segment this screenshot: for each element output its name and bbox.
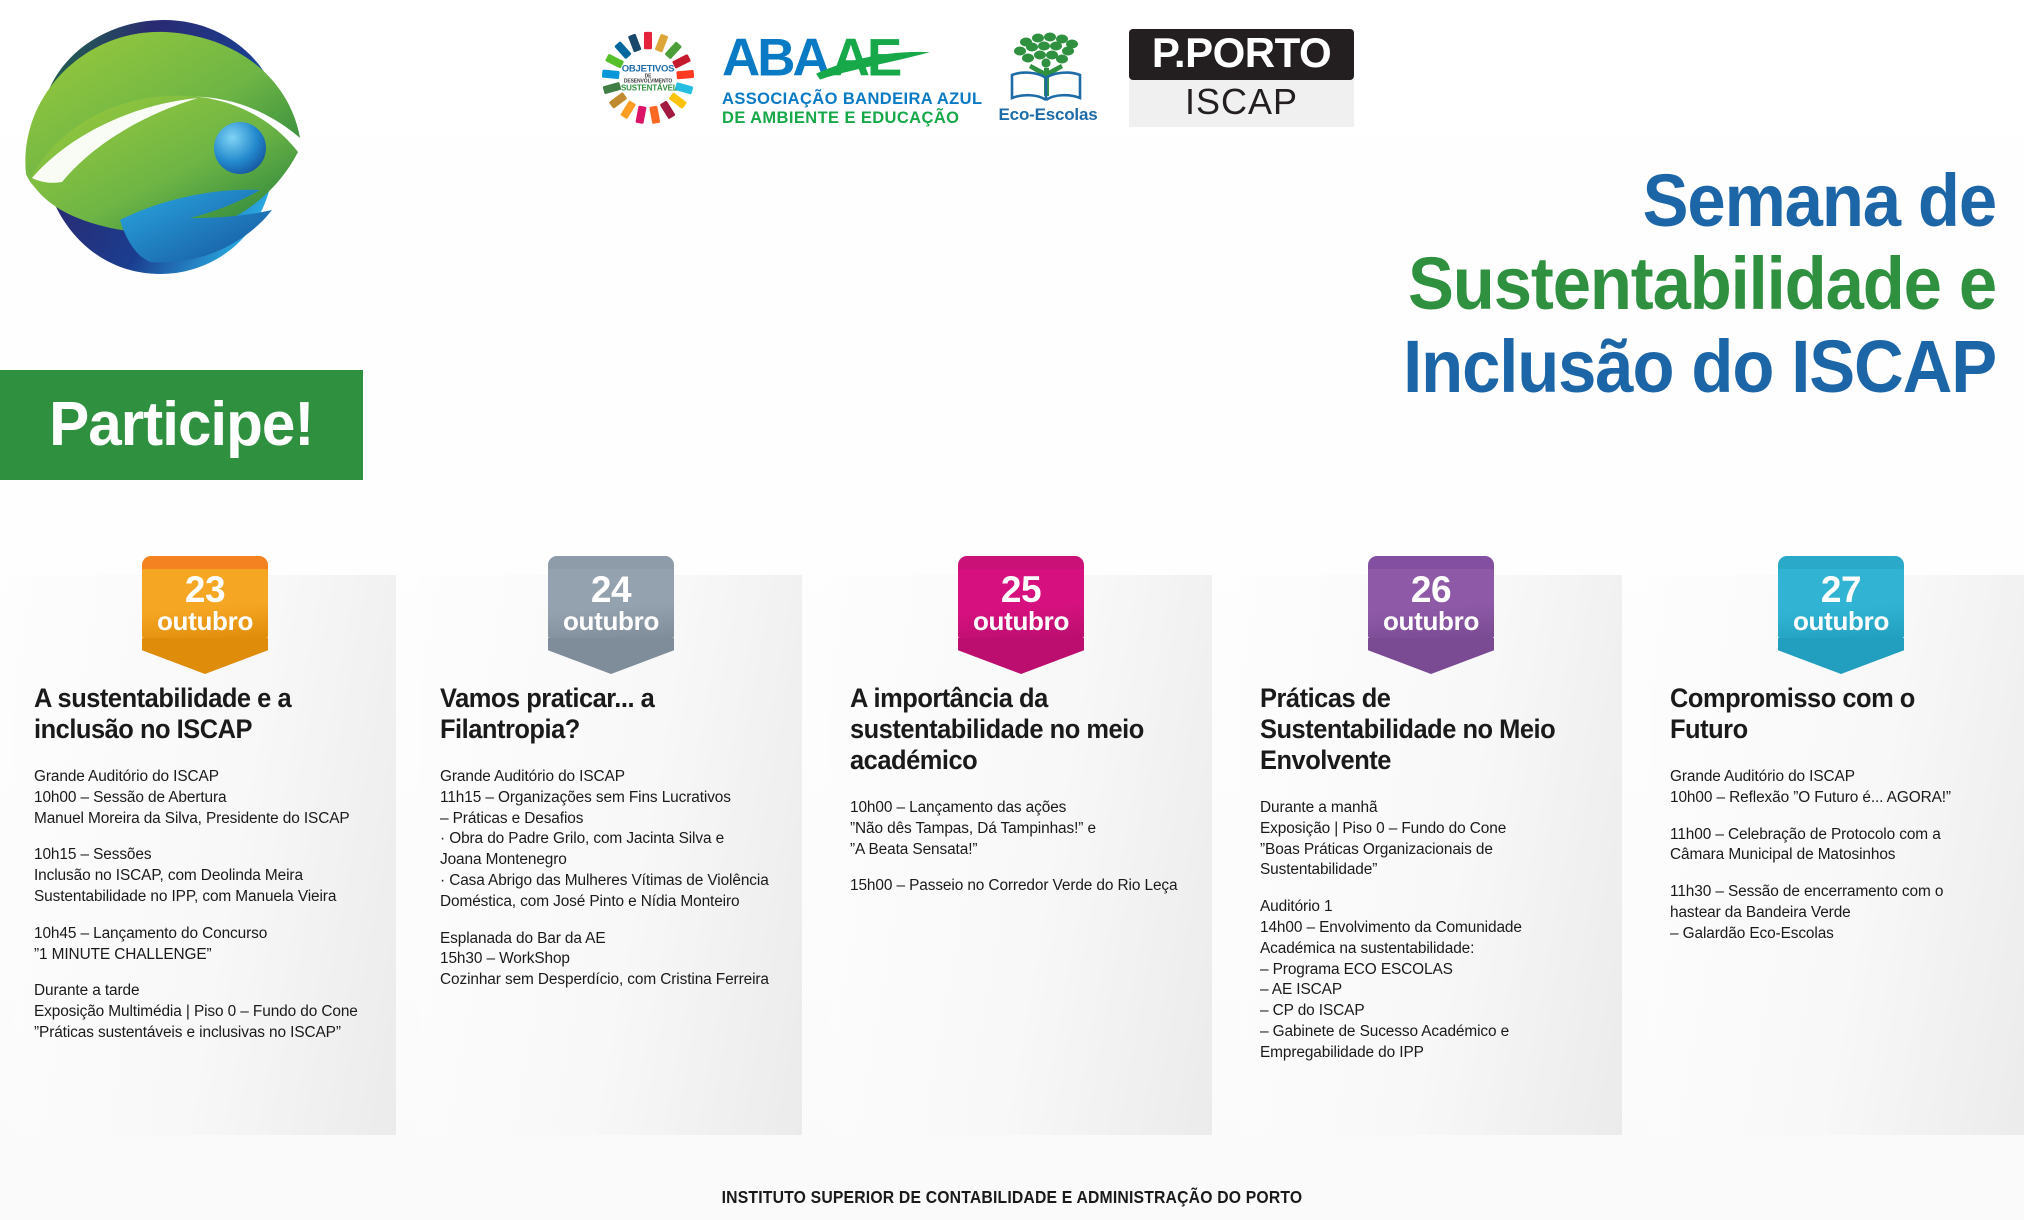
day-title: Vamos praticar... a Filantropia? xyxy=(440,683,738,745)
svg-text:ABA: ABA xyxy=(722,28,830,87)
day-body-block: Esplanada do Bar da AE15h30 – WorkShopCo… xyxy=(440,929,788,991)
day-number: 23 xyxy=(142,571,268,608)
eco-escolas-logo: Eco-Escolas xyxy=(993,32,1103,125)
day-title: A importância da sustentabilidade no mei… xyxy=(850,683,1148,776)
day-body-block: Durante a manhãExposição | Piso 0 – Fund… xyxy=(1260,798,1608,881)
pporto-top-label: P.PORTO xyxy=(1129,29,1354,80)
day-body-block: Grande Auditório do ISCAP10h00 – Reflexã… xyxy=(1670,767,2018,809)
day-column-24: 24 outubro Vamos praticar... a Filantrop… xyxy=(420,575,802,1135)
day-number: 26 xyxy=(1368,571,1494,608)
day-month: outubro xyxy=(548,608,674,634)
ribbon-tail xyxy=(1368,638,1494,674)
poster-root: Participe! xyxy=(0,0,2024,1220)
day-body: Grande Auditório do ISCAP10h00 – Sessão … xyxy=(34,767,382,1044)
day-ribbon-23: 23 outubro xyxy=(142,556,268,674)
ribbon-tail xyxy=(548,638,674,674)
abaae-logo: ABA AE ASSOCIAÇÃO BANDEIRA AZUL DE AMBIE… xyxy=(722,28,967,129)
day-body-block: 10h00 – Lançamento das ações”Não dês Tam… xyxy=(850,798,1198,860)
day-number: 24 xyxy=(548,571,674,608)
day-body-block: 11h00 – Celebração de Protocolo com aCâm… xyxy=(1670,825,2018,867)
day-month: outubro xyxy=(958,608,1084,634)
day-body: Durante a manhãExposição | Piso 0 – Fund… xyxy=(1260,798,1608,1064)
day-month: outubro xyxy=(1778,608,1904,634)
day-title: Práticas de Sustentabilidade no Meio Env… xyxy=(1260,683,1558,776)
title-line-3: Inclusão do ISCAP xyxy=(1020,326,1997,409)
day-ribbon-25: 25 outubro xyxy=(958,556,1084,674)
day-columns: 23 outubro A sustentabilidade e a inclus… xyxy=(0,575,2024,1165)
day-body-block: 15h00 – Passeio no Corredor Verde do Rio… xyxy=(850,876,1198,897)
day-body: 10h00 – Lançamento das ações”Não dês Tam… xyxy=(850,798,1198,897)
abaae-line1: ASSOCIAÇÃO BANDEIRA AZUL xyxy=(722,90,967,109)
day-body-block: 10h45 – Lançamento do Concurso”1 MINUTE … xyxy=(34,924,382,966)
day-body-block: Grande Auditório do ISCAP11h15 – Organiz… xyxy=(440,767,788,913)
day-ribbon-24: 24 outubro xyxy=(548,556,674,674)
day-body: Grande Auditório do ISCAP10h00 – Reflexã… xyxy=(1670,767,2018,945)
day-body-block: Grande Auditório do ISCAP10h00 – Sessão … xyxy=(34,767,382,829)
participe-label: Participe! xyxy=(49,394,313,456)
day-number: 27 xyxy=(1778,571,1904,608)
day-ribbon-26: 26 outubro xyxy=(1368,556,1494,674)
page-title: Semana de Sustentabilidade e Inclusão do… xyxy=(946,160,1996,409)
title-line-2: Sustentabilidade e xyxy=(1020,243,1997,326)
ods-wheel-logo: OBJETIVOS DE DESENVOLVIMENTO SUSTENTÁVEL xyxy=(600,30,696,126)
day-month: outubro xyxy=(142,608,268,634)
day-body: Grande Auditório do ISCAP11h15 – Organiz… xyxy=(440,767,788,991)
title-line-1: Semana de xyxy=(1020,160,1997,243)
day-body-block: Durante a tardeExposição Multimédia | Pi… xyxy=(34,981,382,1043)
abaae-wordmark: ABA AE xyxy=(722,28,967,90)
day-title: Compromisso com o Futuro xyxy=(1670,683,1968,745)
day-column-25: 25 outubro A importância da sustentabili… xyxy=(830,575,1212,1135)
leaf-person-logo xyxy=(8,6,308,306)
eco-escolas-label: Eco-Escolas xyxy=(993,105,1103,125)
day-month: outubro xyxy=(1368,608,1494,634)
day-column-23: 23 outubro A sustentabilidade e a inclus… xyxy=(14,575,396,1135)
ribbon-tail xyxy=(958,638,1084,674)
ribbon-tail xyxy=(142,638,268,674)
abaae-line2: DE AMBIENTE E EDUCAÇÃO xyxy=(722,109,967,128)
ods-line2: DE DESENVOLVIMENTO xyxy=(621,74,675,84)
day-number: 25 xyxy=(958,571,1084,608)
participe-badge: Participe! xyxy=(0,370,363,480)
day-ribbon-27: 27 outubro xyxy=(1778,556,1904,674)
pporto-bottom-label: ISCAP xyxy=(1129,80,1354,127)
day-body-block: 10h15 – SessõesInclusão no ISCAP, com De… xyxy=(34,845,382,907)
ods-line3: SUSTENTÁVEL xyxy=(621,84,675,92)
ribbon-tail xyxy=(1778,638,1904,674)
day-title: A sustentabilidade e a inclusão no ISCAP xyxy=(34,683,332,745)
day-body-block: 11h30 – Sessão de encerramento com ohast… xyxy=(1670,882,2018,944)
day-body-block: Auditório 114h00 – Envolvimento da Comun… xyxy=(1260,897,1608,1063)
partner-logos-row: OBJETIVOS DE DESENVOLVIMENTO SUSTENTÁVEL… xyxy=(600,28,1354,128)
day-column-27: 27 outubro Compromisso com o Futuro Gran… xyxy=(1650,575,2024,1135)
day-column-26: 26 outubro Práticas de Sustentabilidade … xyxy=(1240,575,1622,1135)
pporto-iscap-logo: P.PORTO ISCAP xyxy=(1129,29,1354,127)
footer-institution: INSTITUTO SUPERIOR DE CONTABILIDADE E AD… xyxy=(101,1187,1923,1208)
